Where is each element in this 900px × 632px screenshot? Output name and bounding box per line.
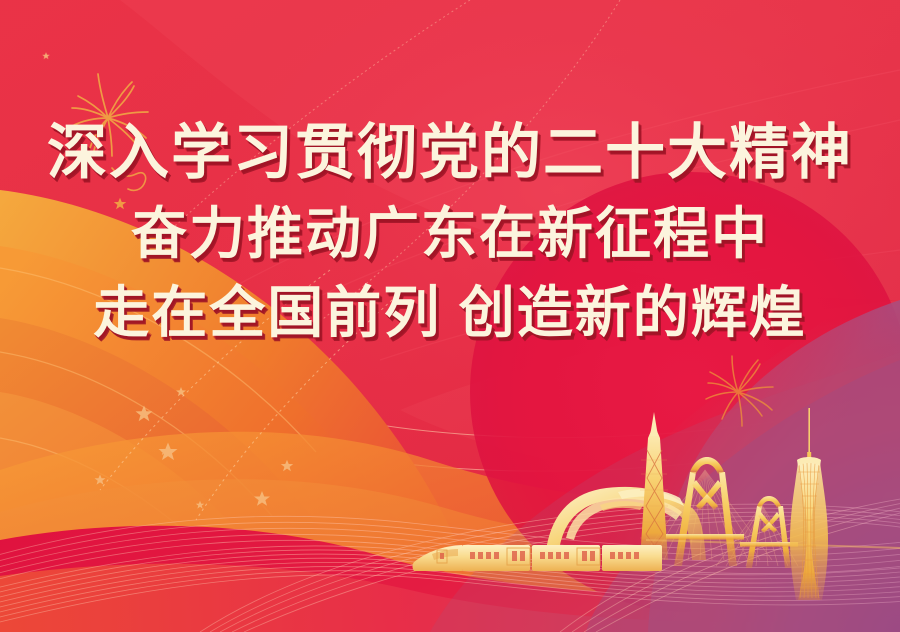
decoration-layer [0, 0, 900, 632]
firework-burst-icon [706, 356, 773, 426]
firework-burst-icon [72, 74, 148, 160]
poster-canvas: 深入学习贯彻党的二十大精神 奋力推动广东在新征程中 走在全国前列 创造新的辉煌 [0, 0, 900, 632]
